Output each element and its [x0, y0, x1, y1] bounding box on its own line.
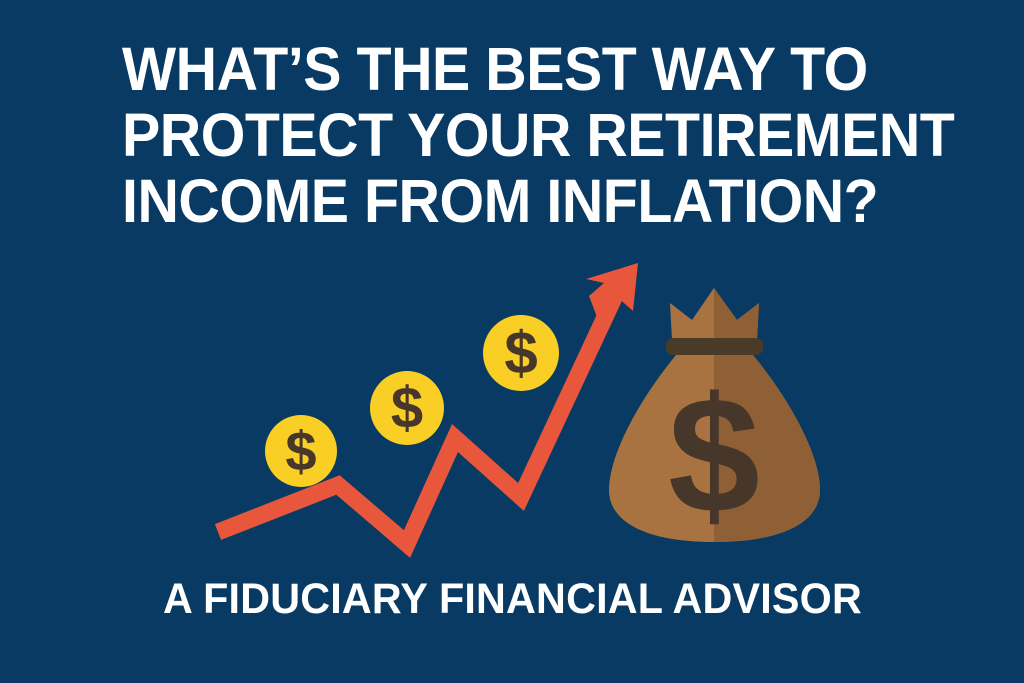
headline-line-1: WHAT’S THE BEST WAY TO	[122, 36, 874, 102]
money-bag-tie-band	[666, 338, 763, 355]
coin-1-dollar-icon: $	[285, 420, 316, 483]
headline-line-2: PROTECT YOUR RETIREMENT	[122, 102, 874, 168]
money-bag-dollar-icon: $	[668, 363, 760, 547]
coin-1: $	[265, 415, 337, 487]
headline-line-3: INCOME FROM INFLATION?	[122, 168, 874, 234]
money-bag-knot-shade	[714, 288, 759, 340]
poster-canvas: $ $ $ $ WHAT’S THE BEST WAY TO PROTE	[0, 0, 1024, 683]
coin-3-dollar-icon: $	[504, 320, 537, 387]
coin-2-dollar-icon: $	[391, 376, 423, 441]
subtitle: A FIDUCIARY FINANCIAL ADVISOR	[163, 576, 839, 622]
coin-2: $	[370, 371, 444, 445]
money-bag-icon: $	[609, 288, 820, 547]
coin-3: $	[483, 315, 559, 391]
page-title: WHAT’S THE BEST WAY TO PROTECT YOUR RETI…	[122, 36, 874, 234]
